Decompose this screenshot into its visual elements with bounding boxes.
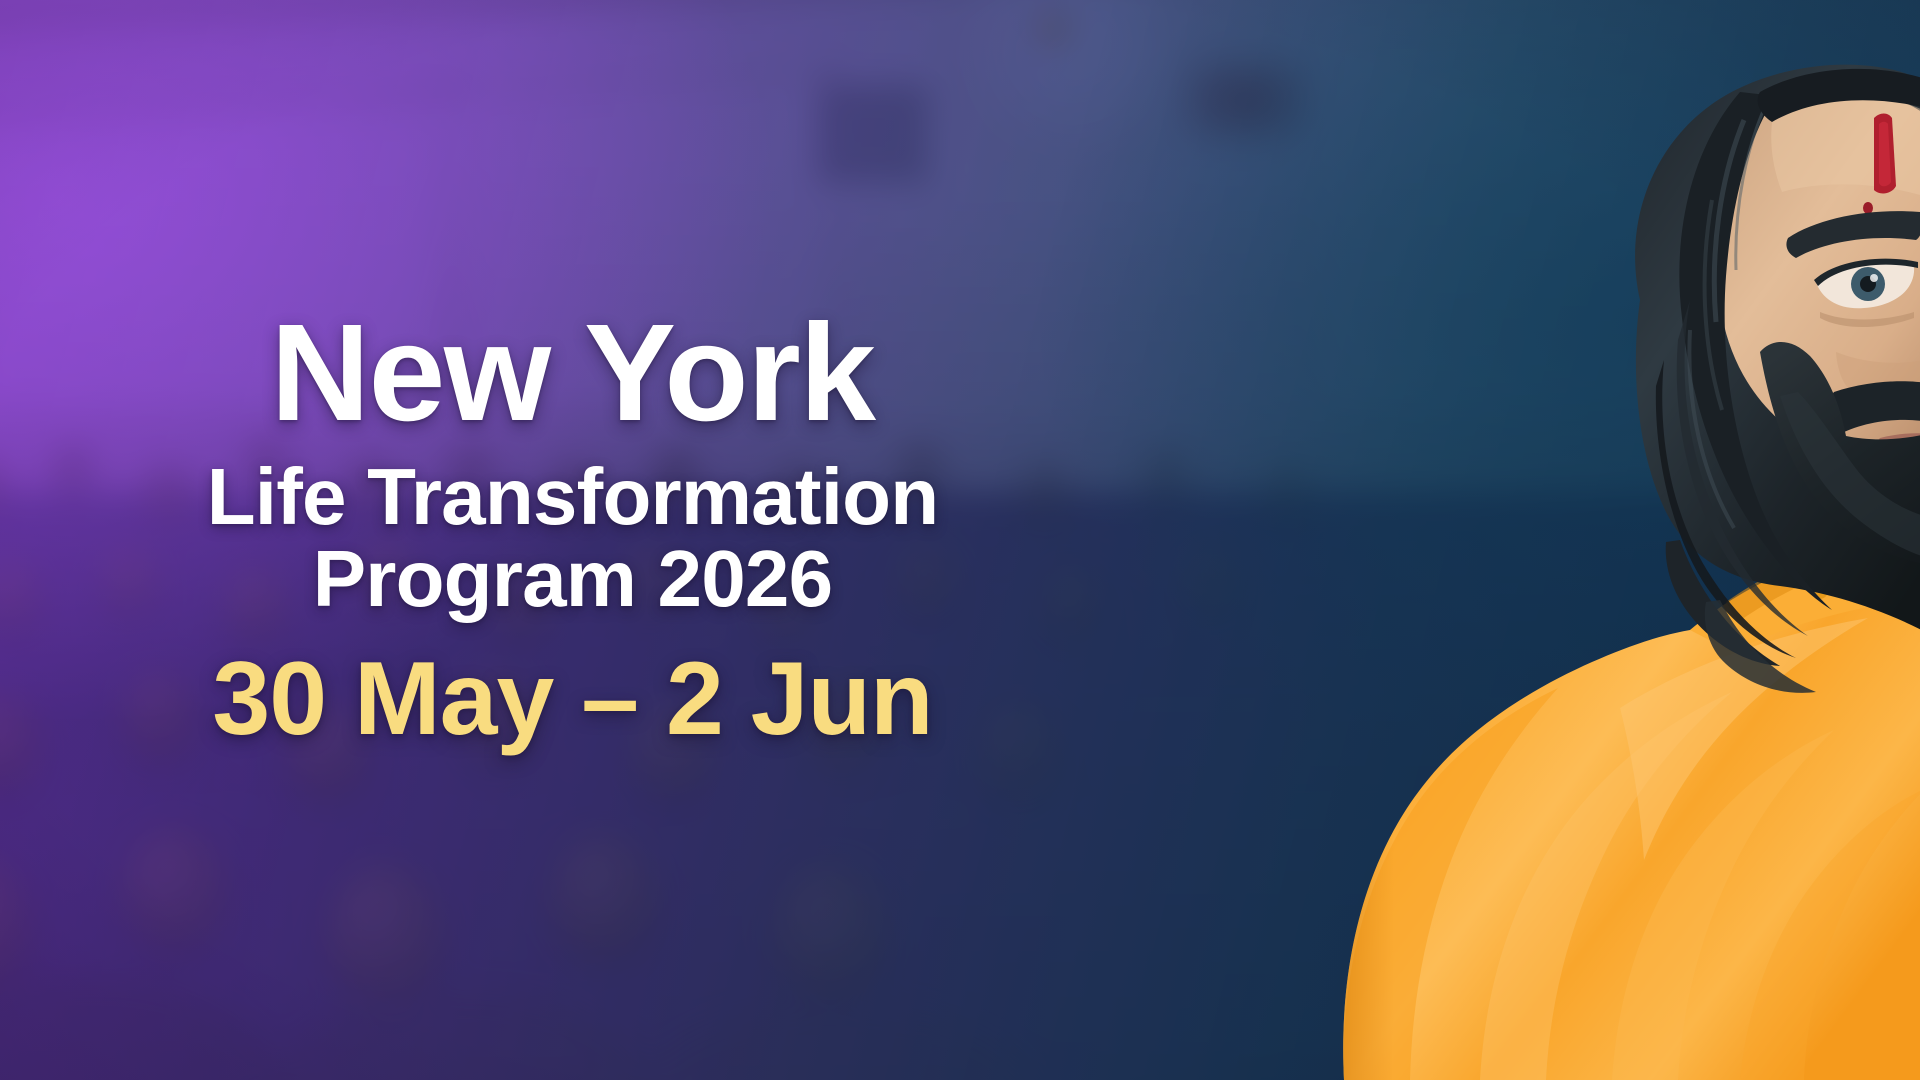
program-title-line-1: Life Transformation — [207, 456, 939, 538]
banner-copy: New York Life Transformation Program 202… — [0, 0, 1145, 1080]
saffron-robe — [1343, 546, 1920, 1080]
city-heading: New York — [270, 307, 874, 439]
event-dates: 30 May – 2 Jun — [212, 647, 932, 751]
event-banner: New York Life Transformation Program 202… — [0, 0, 1920, 1080]
program-title: Life Transformation Program 2026 — [207, 456, 939, 621]
program-title-line-2: Program 2026 — [207, 538, 939, 620]
monk-portrait — [1220, 0, 1920, 1080]
